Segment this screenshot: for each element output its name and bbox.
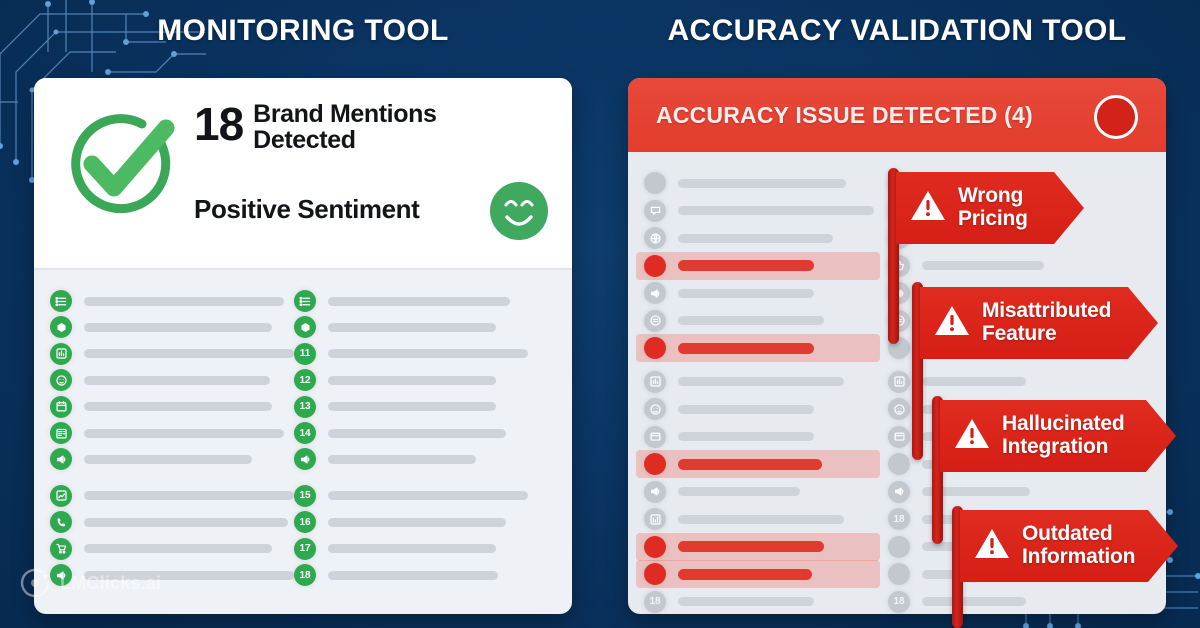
- flagged-dot-icon: [644, 337, 666, 359]
- list-item-bar: [84, 571, 294, 580]
- chat-icon: [644, 200, 666, 222]
- infographic-canvas: MONITORING TOOL ACCURACY VALIDATION TOOL…: [0, 0, 1200, 628]
- list-item-number-badge: 18: [888, 508, 910, 530]
- monitoring-tool-card: 18 Brand Mentions Detected Positive Sent…: [34, 78, 572, 614]
- flagged-dot-icon: [644, 536, 666, 558]
- smiley-icon: [888, 398, 910, 420]
- list-item-bar: [678, 487, 800, 496]
- list-item[interactable]: [644, 282, 888, 304]
- list-item-number-badge: 14: [294, 422, 316, 444]
- list-item-bar: [678, 316, 824, 325]
- bar-chart-icon: [50, 343, 72, 365]
- list-item-number-badge: 18: [294, 564, 316, 586]
- page-title-monitoring: MONITORING TOOL: [34, 14, 572, 48]
- megaphone-icon: [888, 481, 910, 503]
- list-item-bar: [84, 455, 252, 464]
- hexagon-icon: [50, 316, 72, 338]
- list-item[interactable]: 13: [294, 396, 556, 418]
- flag-label: WrongPricing: [958, 185, 1028, 230]
- list-item[interactable]: [888, 255, 1150, 277]
- cart-icon: [50, 538, 72, 560]
- megaphone-icon: [644, 282, 666, 304]
- card-icon: [888, 426, 910, 448]
- list-item-bar: [84, 349, 294, 358]
- list-item-bar: [922, 597, 1026, 606]
- list-item-number-badge: 18: [644, 591, 666, 613]
- list-item[interactable]: [50, 564, 294, 586]
- list-item[interactable]: [50, 422, 294, 444]
- list-item-bar: [84, 544, 272, 553]
- list-item[interactable]: [644, 563, 888, 585]
- list-item-bar: [328, 376, 496, 385]
- list-item[interactable]: [644, 508, 888, 530]
- globe-icon: [644, 227, 666, 249]
- list-item[interactable]: [888, 481, 1150, 503]
- list-item[interactable]: [50, 369, 294, 391]
- list-item-bar: [84, 323, 272, 332]
- list-item-bar: [922, 377, 1026, 386]
- list-item[interactable]: 15: [294, 485, 556, 507]
- list-item[interactable]: [50, 448, 294, 470]
- list-item[interactable]: [644, 310, 888, 332]
- list-item-bar: [678, 541, 824, 552]
- list-item[interactable]: [294, 448, 556, 470]
- list-item[interactable]: [644, 255, 888, 277]
- list-item[interactable]: [294, 316, 556, 338]
- list-item[interactable]: [644, 481, 888, 503]
- list-item[interactable]: [644, 536, 888, 558]
- list-item-number-badge: 16: [294, 511, 316, 533]
- list-item-bar: [678, 432, 814, 441]
- list-item[interactable]: [50, 511, 294, 533]
- list-item-bar: [328, 491, 528, 500]
- list-item[interactable]: [888, 371, 1150, 393]
- card-icon: [644, 426, 666, 448]
- list-item-bar: [328, 323, 496, 332]
- list-item-bar: [84, 491, 294, 500]
- smiley-icon: [50, 369, 72, 391]
- newspaper-icon: [50, 422, 72, 444]
- bar-chart-icon: [644, 371, 666, 393]
- list-item-bar: [328, 518, 506, 527]
- list-item[interactable]: 11: [294, 343, 556, 365]
- metric-label: Brand Mentions Detected: [253, 102, 436, 153]
- list-item[interactable]: [644, 371, 888, 393]
- list-item[interactable]: [50, 290, 294, 312]
- list-item[interactable]: 17: [294, 538, 556, 560]
- flagged-dot-icon: [644, 453, 666, 475]
- list-item-bar: [678, 597, 814, 606]
- flag-banner[interactable]: WrongPricing: [896, 172, 1084, 244]
- list-item-bar: [328, 429, 506, 438]
- list-item[interactable]: [50, 343, 294, 365]
- list-item-number-badge: 15: [294, 485, 316, 507]
- list-item-number-badge: 13: [294, 396, 316, 418]
- list-item-number-badge: 18: [888, 591, 910, 613]
- list-item-bar: [328, 455, 476, 464]
- list-item[interactable]: [644, 227, 888, 249]
- list-item-bar: [678, 405, 814, 414]
- circle-icon: [644, 172, 666, 194]
- megaphone-icon: [294, 448, 316, 470]
- list-item[interactable]: [50, 316, 294, 338]
- list-item[interactable]: [50, 538, 294, 560]
- circle-icon: [888, 563, 910, 585]
- list-item-bar: [328, 544, 496, 553]
- accuracy-alert-header: ACCURACY ISSUE DETECTED (4): [628, 78, 1166, 152]
- list-item[interactable]: [644, 337, 888, 359]
- list-item[interactable]: [50, 485, 294, 507]
- calendar-icon: [50, 396, 72, 418]
- bar-chart-icon: [888, 371, 910, 393]
- list-item[interactable]: 18: [888, 591, 1150, 613]
- list-item-bar: [678, 459, 822, 470]
- list-item[interactable]: 18: [644, 591, 888, 613]
- list-item[interactable]: [644, 426, 888, 448]
- flag-banner[interactable]: OutdatedInformation: [960, 510, 1178, 582]
- list-item-bar: [678, 179, 846, 188]
- list-item[interactable]: [644, 398, 888, 420]
- smiley-face-icon: [488, 180, 550, 242]
- brand-mentions-metric: 18 Brand Mentions Detected: [194, 102, 436, 153]
- list-item-bar: [328, 402, 496, 411]
- list-item-bar: [678, 515, 844, 524]
- phone-icon: [50, 511, 72, 533]
- list-item-bar: [678, 260, 814, 271]
- list-item-bar: [328, 297, 510, 306]
- list-icon: [50, 290, 72, 312]
- list-item-bar: [678, 289, 814, 298]
- megaphone-icon: [644, 481, 666, 503]
- red-status-dot-icon: [1094, 95, 1138, 139]
- alert-header-text: ACCURACY ISSUE DETECTED (4): [656, 102, 1033, 129]
- page-title-accuracy: ACCURACY VALIDATION TOOL: [628, 14, 1166, 48]
- flagged-dot-icon: [644, 255, 666, 277]
- list-item[interactable]: 14: [294, 422, 556, 444]
- list-item[interactable]: [644, 172, 888, 194]
- warning-triangle-icon: [910, 189, 946, 227]
- list-item-bar: [922, 261, 1044, 270]
- flag-label: OutdatedInformation: [1022, 523, 1135, 568]
- monitoring-list-column-2: 1112131415161718: [294, 284, 556, 614]
- list-item-bar: [678, 343, 814, 354]
- flag-banner[interactable]: HallucinatedIntegration: [940, 400, 1176, 472]
- check-circle-icon: [62, 104, 180, 222]
- list-item-number-badge: 17: [294, 538, 316, 560]
- smiley-icon: [644, 398, 666, 420]
- list-item[interactable]: 12: [294, 369, 556, 391]
- list-item[interactable]: [50, 396, 294, 418]
- list-item-bar: [328, 571, 498, 580]
- hexagon-icon: [294, 316, 316, 338]
- warning-triangle-icon: [934, 304, 970, 342]
- list-item-bar: [678, 234, 833, 243]
- list-item-bar: [84, 518, 288, 527]
- flag-banner[interactable]: MisattributedFeature: [920, 287, 1158, 359]
- list-item-bar: [84, 402, 272, 411]
- list-item[interactable]: [644, 200, 888, 222]
- sentiment-label: Positive Sentiment: [194, 194, 419, 225]
- list-item[interactable]: 16: [294, 511, 556, 533]
- flag-label: MisattributedFeature: [982, 300, 1111, 345]
- list-item-bar: [678, 377, 844, 386]
- list-item-bar: [328, 349, 528, 358]
- list-item[interactable]: [644, 453, 888, 475]
- list-item-number-badge: 12: [294, 369, 316, 391]
- chart-icon: [644, 508, 666, 530]
- list-item-bar: [84, 297, 284, 306]
- list-item[interactable]: [294, 290, 556, 312]
- menu-icon: [644, 310, 666, 332]
- circle-icon: [888, 536, 910, 558]
- list-item-bar: [678, 206, 874, 215]
- monitoring-list-column-1: [50, 284, 294, 614]
- warning-triangle-icon: [954, 417, 990, 455]
- list-item-bar: [678, 569, 812, 580]
- accuracy-list-column-1: 18: [644, 164, 888, 614]
- metric-count: 18: [194, 102, 253, 146]
- megaphone-icon: [50, 564, 72, 586]
- list-item-number-badge: 11: [294, 343, 316, 365]
- circle-icon: [888, 453, 910, 475]
- list-item[interactable]: 18: [294, 564, 556, 586]
- monitoring-list: 1112131415161718: [34, 270, 572, 614]
- list-item-bar: [84, 376, 270, 385]
- list-icon: [294, 290, 316, 312]
- trend-up-icon: [50, 485, 72, 507]
- flag-label: HallucinatedIntegration: [1002, 413, 1124, 458]
- megaphone-icon: [50, 448, 72, 470]
- warning-triangle-icon: [974, 527, 1010, 565]
- flagged-dot-icon: [644, 563, 666, 585]
- monitoring-hero: 18 Brand Mentions Detected Positive Sent…: [34, 78, 572, 270]
- list-item-bar: [84, 429, 284, 438]
